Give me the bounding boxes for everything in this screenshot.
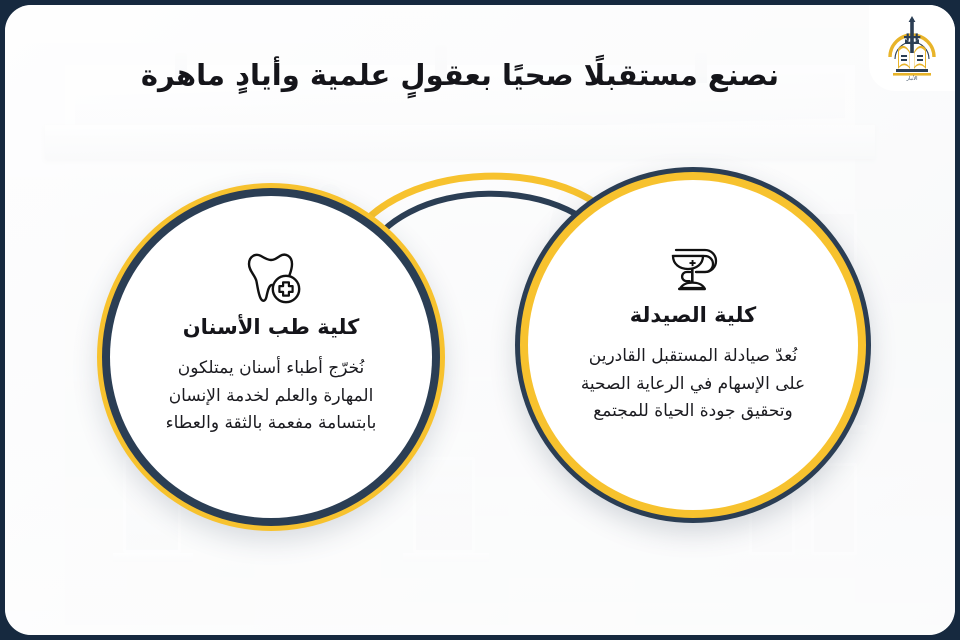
logo-plate: الأنبار (869, 5, 955, 91)
card-pharmacy-description: نُعدّ صيادلة المستقبل القادرين على الإسه… (528, 343, 858, 426)
card-dentistry-body: كلية طب الأسنان نُخرّج أطباء أسنان يمتلك… (110, 196, 432, 518)
bowl-of-hygieia-icon (665, 236, 721, 296)
card-dentistry[interactable]: كلية طب الأسنان نُخرّج أطباء أسنان يمتلك… (97, 183, 445, 531)
card-pharmacy-ring: كلية الصيدلة نُعدّ صيادلة المستقبل القاد… (520, 172, 866, 518)
logo-bottom-text: الأنبار (905, 75, 917, 82)
tooth-with-medical-cross-icon (240, 248, 302, 308)
card-dentistry-description: نُخرّج أطباء أسنان يمتلكون المهارة والعل… (110, 355, 432, 438)
card-pharmacy-body: كلية الصيدلة نُعدّ صيادلة المستقبل القاد… (528, 180, 858, 510)
card-pharmacy-title: كلية الصيدلة (630, 302, 757, 329)
card-pharmacy[interactable]: كلية الصيدلة نُعدّ صيادلة المستقبل القاد… (515, 167, 871, 523)
slide-root: نصنع مستقبلًا صحيًا بعقولٍ علمية وأيادٍ … (0, 0, 960, 640)
university-emblem-icon: الأنبار (882, 13, 942, 83)
slide-panel: نصنع مستقبلًا صحيًا بعقولٍ علمية وأيادٍ … (5, 5, 955, 635)
page-title: نصنع مستقبلًا صحيًا بعقولٍ علمية وأيادٍ … (181, 57, 779, 93)
card-dentistry-ring: كلية طب الأسنان نُخرّج أطباء أسنان يمتلك… (102, 188, 440, 526)
card-dentistry-title: كلية طب الأسنان (183, 314, 360, 341)
